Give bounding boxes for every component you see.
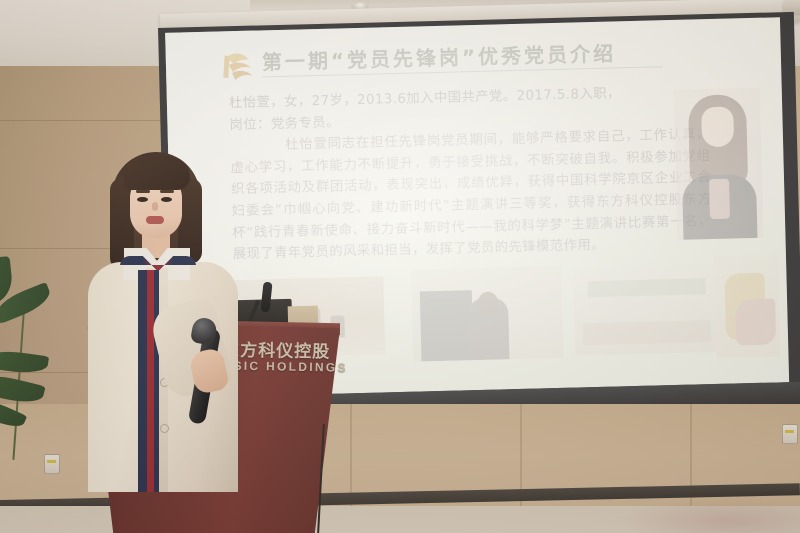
presenter-trim-red [147,270,154,492]
slide-body-text: 杜怡萱，女，27岁，2013.6加入中国共产党。2017.5.8入职， 岗位：党… [229,81,713,266]
presenter-eye-left [137,197,148,202]
presenter-nose [152,202,158,211]
presenter-trim-navy-inner [154,270,159,492]
photo-speech-at-podium [411,266,563,362]
portrait-shirt [709,179,730,219]
presenter-brow-left [136,190,150,193]
presenter-fringe [124,156,190,190]
wall-outlet-right [782,424,798,444]
presenter-button [160,424,169,433]
cpc-party-emblem-icon [218,46,259,85]
photo-stage-banner [573,264,721,356]
photo-scene: 第一期“党员先锋岗”优秀党员介绍 杜怡萱，女，27岁，2013.6加入中国共产党… [0,0,800,533]
plant-leaf [0,370,46,408]
presenter [80,150,270,533]
presenter-trim-navy [138,270,147,492]
presenter-eye-right [161,197,172,202]
presenter-brow-right [160,190,174,193]
portrait-face [701,106,734,147]
slide-paragraph-main: 杜怡萱同志在担任先锋岗党员期间，能够严格要求自己，工作认真，虚心学习，工作能力不… [230,124,713,266]
photo-award-hands [714,254,781,358]
plant-leaf [0,348,49,377]
slide-title: 第一期“党员先锋岗”优秀党员介绍 [261,35,722,76]
presenter-mouth [146,216,164,224]
slide-portrait-photo [674,88,764,240]
